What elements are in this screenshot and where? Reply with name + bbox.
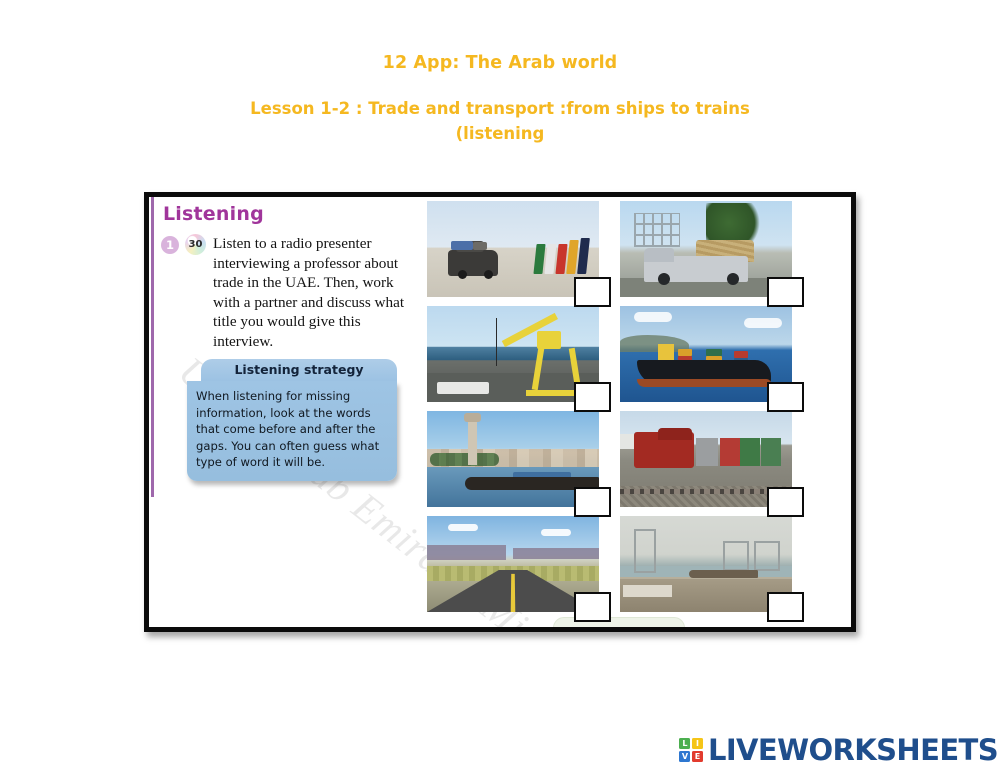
image-cell-dhow-boat-on-dubai-creek bbox=[427, 411, 599, 507]
image-cell-desert-highway-road bbox=[427, 516, 599, 612]
answer-box[interactable] bbox=[574, 592, 611, 622]
image-grid bbox=[427, 201, 847, 621]
image-cell-pickup-truck-carrying-cargo bbox=[620, 201, 792, 297]
strategy-body: When listening for missing information, … bbox=[187, 381, 397, 481]
page-subtitle: Lesson 1-2 : Trade and transport :from s… bbox=[0, 96, 1000, 146]
logo-tile-i: I bbox=[692, 738, 703, 749]
section-accent-rule bbox=[151, 197, 154, 497]
page-title-block: 12 App: The Arab world Lesson 1-2 : Trad… bbox=[0, 52, 1000, 146]
page-subtitle-line2: (listening bbox=[0, 121, 1000, 146]
logo-tile-l: L bbox=[679, 738, 690, 749]
worksheet-frame: United Arab Emirates Ministry of Educati… bbox=[144, 192, 856, 632]
clipped-bottom-element bbox=[553, 617, 685, 627]
image-grid-row bbox=[427, 306, 847, 402]
strategy-text: When listening for missing information, … bbox=[196, 388, 388, 471]
liveworksheets-logo-text: LIVEWORKSHEETS bbox=[708, 733, 998, 767]
page-subtitle-line1: Lesson 1-2 : Trade and transport :from s… bbox=[250, 99, 750, 118]
task-item: 1 30 Listen to a radio presenter intervi… bbox=[159, 233, 421, 351]
image-cell-container-ship-at-sea bbox=[620, 306, 792, 402]
task-number-badge: 1 bbox=[161, 236, 179, 254]
answer-box[interactable] bbox=[574, 277, 611, 307]
logo-tile-v: V bbox=[679, 751, 690, 762]
audio-track-icon[interactable]: 30 bbox=[185, 234, 206, 255]
answer-box[interactable] bbox=[574, 382, 611, 412]
answer-box[interactable] bbox=[767, 592, 804, 622]
strategy-title: Listening strategy bbox=[234, 362, 363, 377]
image-cell-four-wheel-drive-at-border-crossing bbox=[427, 201, 599, 297]
answer-box[interactable] bbox=[767, 382, 804, 412]
listening-strategy-box: Listening strategy When listening for mi… bbox=[187, 359, 397, 481]
answer-box[interactable] bbox=[767, 277, 804, 307]
worksheet-sheet: United Arab Emirates Ministry of Educati… bbox=[149, 197, 851, 627]
liveworksheets-logo[interactable]: L I V E LIVEWORKSHEETS bbox=[679, 733, 998, 767]
task-instruction: Listen to a radio presenter interviewing… bbox=[213, 234, 421, 351]
image-grid-row bbox=[427, 516, 847, 612]
logo-tile-e: E bbox=[692, 751, 703, 762]
answer-box[interactable] bbox=[574, 487, 611, 517]
page-title: 12 App: The Arab world bbox=[0, 52, 1000, 74]
listening-column: Listening 1 30 Listen to a radio present… bbox=[159, 203, 421, 351]
answer-box[interactable] bbox=[767, 487, 804, 517]
liveworksheets-logo-mark: L I V E bbox=[679, 738, 703, 762]
strategy-title-tab: Listening strategy bbox=[201, 359, 397, 381]
image-grid-row bbox=[427, 201, 847, 297]
image-cell-red-freight-train-with-wagons bbox=[620, 411, 792, 507]
image-grid-row bbox=[427, 411, 847, 507]
worksheet-page: 12 App: The Arab world Lesson 1-2 : Trad… bbox=[0, 0, 1000, 772]
section-heading: Listening bbox=[159, 203, 421, 225]
image-cell-yellow-port-crane-loading-dock bbox=[427, 306, 599, 402]
image-cell-port-with-gantry-cranes bbox=[620, 516, 792, 612]
